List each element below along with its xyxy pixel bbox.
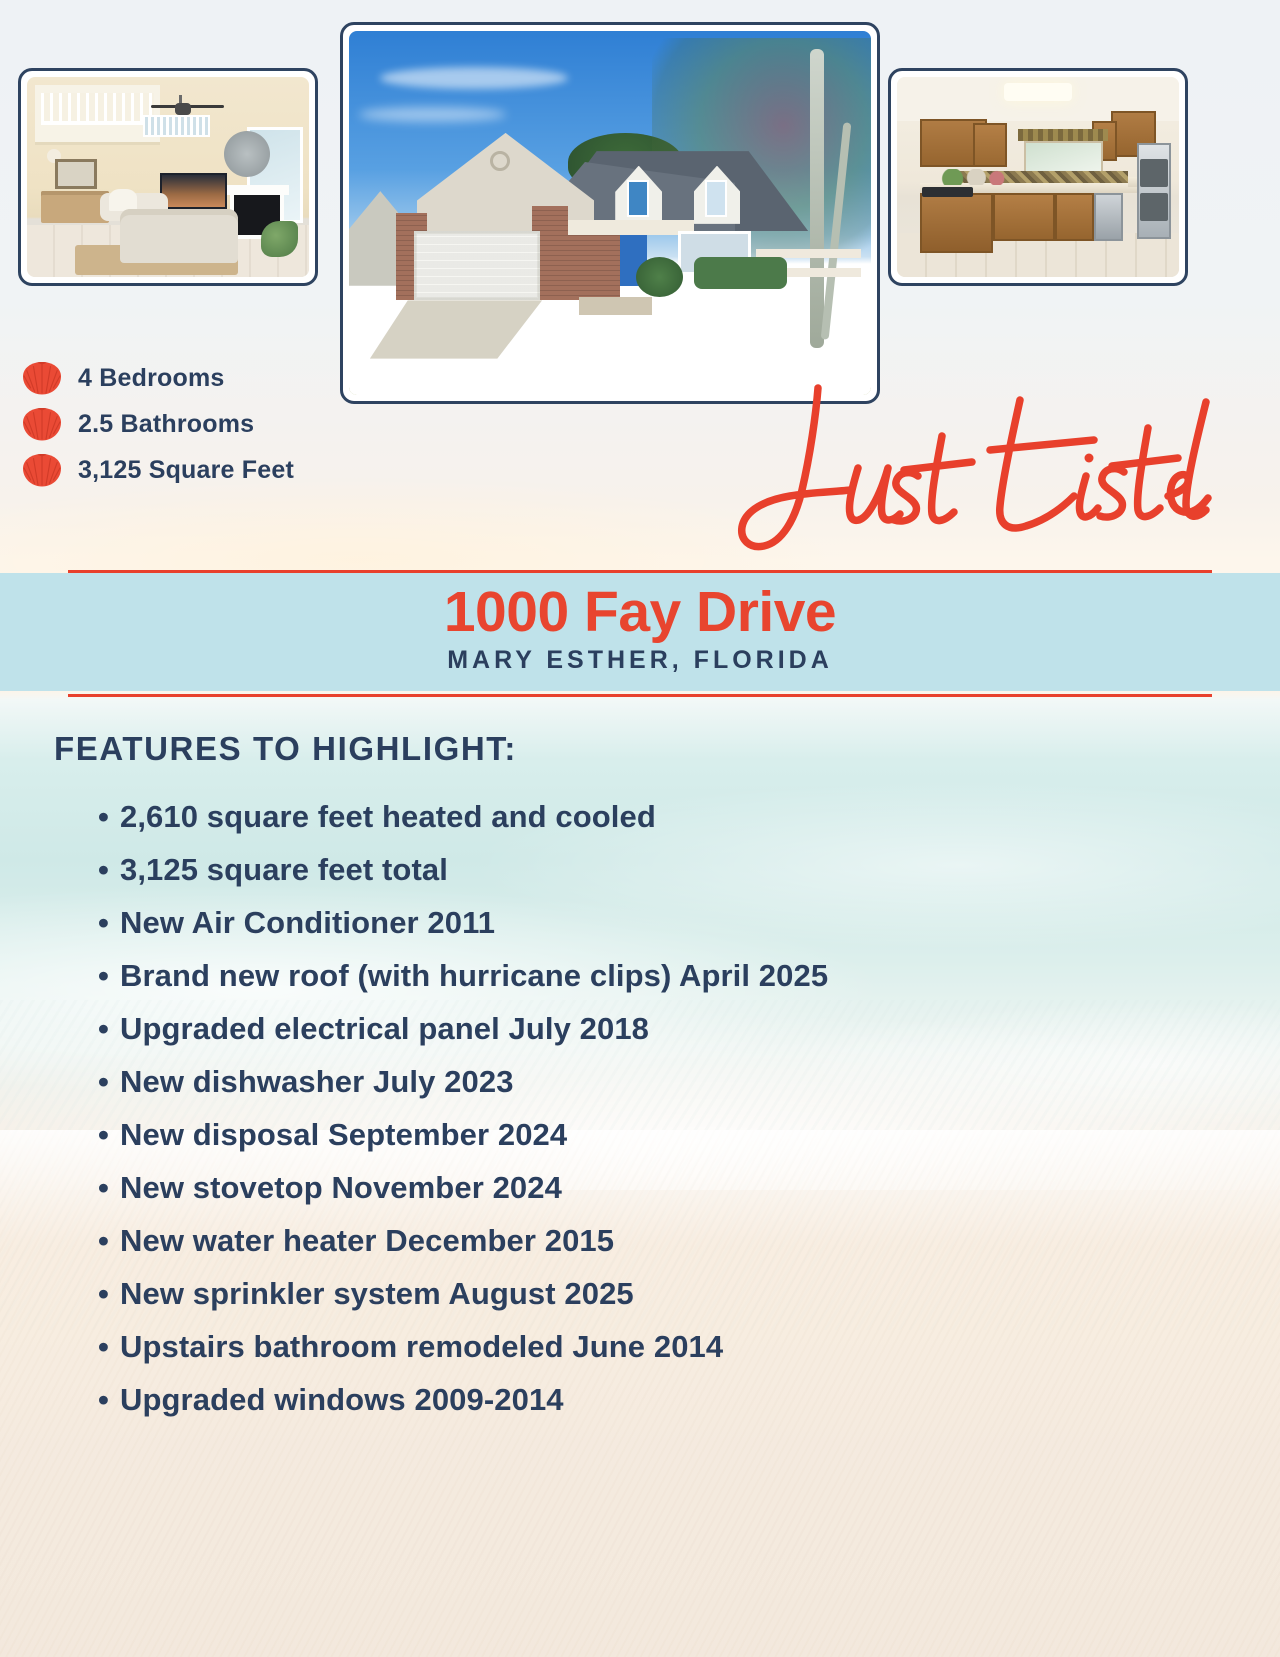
divider-rule-top <box>68 570 1212 573</box>
features-list: 2,610 square feet heated and cooled 3,12… <box>96 790 1280 1426</box>
feature-item: Upgraded electrical panel July 2018 <box>96 1002 1280 1055</box>
shell-icon <box>22 407 62 441</box>
feature-item: Upstairs bathroom remodeled June 2014 <box>96 1320 1280 1373</box>
just-listed-badge: Just Listed <box>690 372 1210 572</box>
feature-item: New sprinkler system August 2025 <box>96 1267 1280 1320</box>
city-state: MARY ESTHER, FLORIDA <box>0 645 1280 675</box>
feature-item: New disposal September 2024 <box>96 1108 1280 1161</box>
listing-flyer: 4 Bedrooms 2.5 Bathrooms <box>0 0 1280 1657</box>
features-heading: FEATURES TO HIGHLIGHT: <box>54 730 1280 768</box>
property-stats: 4 Bedrooms 2.5 Bathrooms <box>22 355 294 493</box>
shell-icon <box>22 453 62 487</box>
stat-bathrooms: 2.5 Bathrooms <box>22 401 294 447</box>
stat-square-feet: 3,125 Square Feet <box>22 447 294 493</box>
feature-item: 2,610 square feet heated and cooled <box>96 790 1280 843</box>
living-room-photo <box>18 68 318 286</box>
feature-item: 3,125 square feet total <box>96 843 1280 896</box>
house-exterior-photo <box>340 22 880 404</box>
divider-rule-bottom <box>68 694 1212 697</box>
stat-label: 4 Bedrooms <box>78 364 224 393</box>
shell-icon <box>22 361 62 395</box>
street-address: 1000 Fay Drive <box>0 573 1280 645</box>
feature-item: New dishwasher July 2023 <box>96 1055 1280 1108</box>
kitchen-photo <box>888 68 1188 286</box>
features-section: FEATURES TO HIGHLIGHT: 2,610 square feet… <box>0 730 1280 1426</box>
feature-item: New stovetop November 2024 <box>96 1161 1280 1214</box>
address-banner: 1000 Fay Drive MARY ESTHER, FLORIDA <box>0 573 1280 691</box>
feature-item: Brand new roof (with hurricane clips) Ap… <box>96 949 1280 1002</box>
feature-item: New water heater December 2015 <box>96 1214 1280 1267</box>
feature-item: New Air Conditioner 2011 <box>96 896 1280 949</box>
stat-label: 3,125 Square Feet <box>78 456 294 485</box>
stat-label: 2.5 Bathrooms <box>78 410 254 439</box>
feature-item: Upgraded windows 2009-2014 <box>96 1373 1280 1426</box>
stat-bedrooms: 4 Bedrooms <box>22 355 294 401</box>
